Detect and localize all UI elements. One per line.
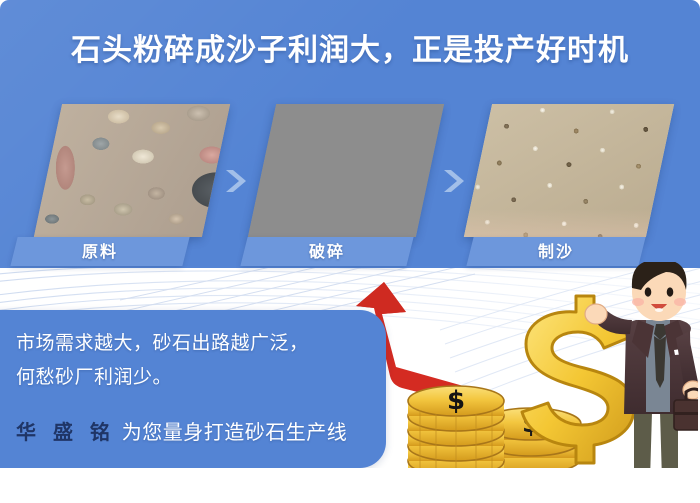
brand-tagline-row: 华 盛 铭 为您量身打造砂石生产线 [16, 416, 347, 445]
copy-line-2: 何愁砂厂利润少。 [16, 362, 172, 389]
step-label-crushing: 破碎 [240, 237, 413, 266]
brand-tagline: 为您量身打造砂石生产线 [122, 420, 348, 444]
footer-strip [0, 468, 700, 503]
copy-line-1: 市场需求越大，砂石出路越广泛， [16, 328, 309, 355]
chevron-right-icon [222, 168, 250, 194]
process-step-3 [478, 104, 646, 237]
page-title: 石头粉碎成沙子利润大，正是投产好时机 [0, 25, 700, 69]
brand-name: 华 盛 铭 [16, 420, 115, 444]
chevron-right-icon [440, 168, 468, 194]
copy-panel: 市场需求越大，砂石出路越广泛， 何愁砂厂利润少。 华 盛 铭 为您量身打造砂石生… [0, 310, 386, 468]
step-label-text: 原料 [14, 237, 186, 266]
process-step-2 [262, 104, 430, 237]
process-step-1 [48, 104, 216, 237]
money-illustration: $ [398, 262, 698, 503]
gravel-photo [248, 104, 444, 237]
sand-photo [464, 104, 674, 237]
pebbles-photo [34, 104, 230, 237]
promo-banner: 石头粉碎成沙子利润大，正是投产好时机 原料 破碎 制沙 [0, 0, 700, 503]
svg-text:$: $ [447, 386, 465, 416]
step-label-raw-material: 原料 [10, 237, 189, 266]
step-label-text: 破碎 [244, 237, 410, 266]
